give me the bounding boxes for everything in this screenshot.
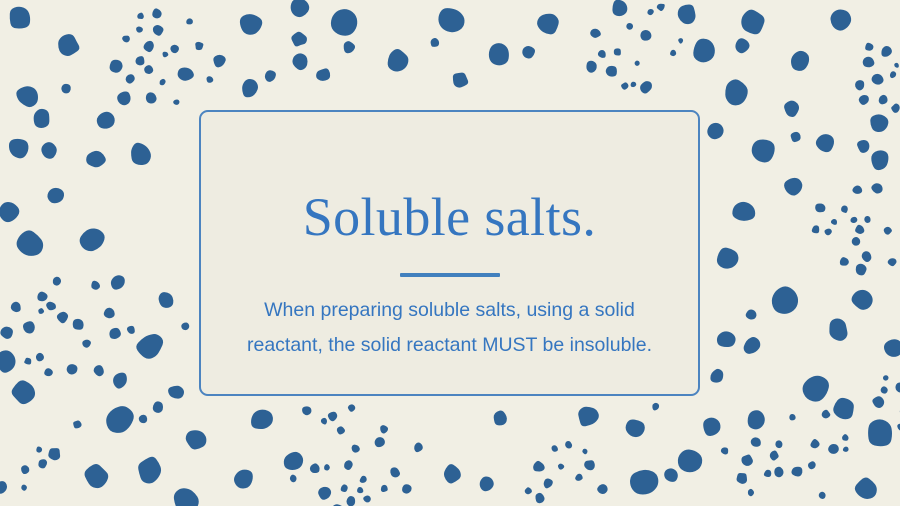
body-paragraph: When preparing soluble salts, using a so… <box>230 277 670 364</box>
page-title: Soluble salts. <box>303 112 597 244</box>
slide-canvas: Soluble salts. When preparing soluble sa… <box>0 0 900 506</box>
content-card: Soluble salts. When preparing soluble sa… <box>199 110 700 396</box>
